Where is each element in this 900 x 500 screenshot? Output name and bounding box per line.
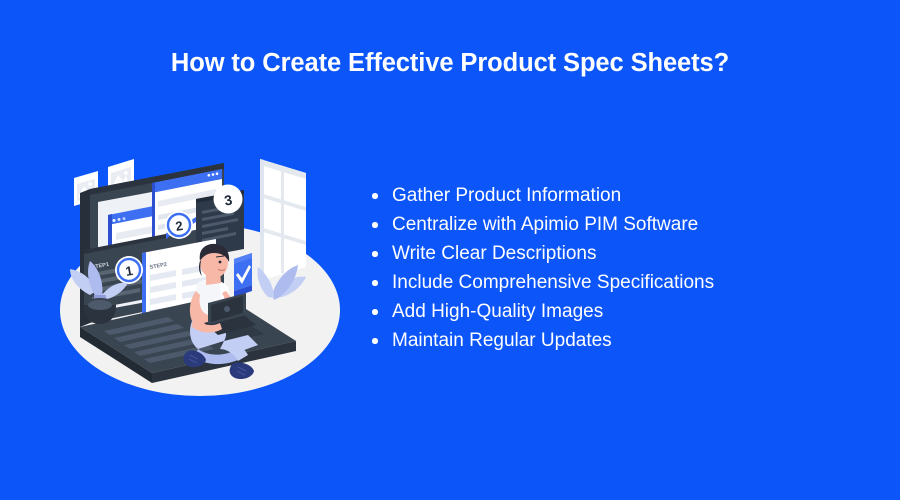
bullet-dot-icon (372, 193, 378, 199)
bullet-dot-icon (372, 280, 378, 286)
bullet-dot-icon (372, 309, 378, 315)
feature-bullet-list: Gather Product Information Centralize wi… (368, 181, 868, 355)
bullet-dot-icon (372, 251, 378, 257)
list-item: Centralize with Apimio PIM Software (368, 210, 868, 239)
list-item-label: Write Clear Descriptions (392, 243, 596, 264)
wall-window-icon (260, 159, 306, 281)
list-item-label: Gather Product Information (392, 185, 621, 206)
hero-illustration: STEP1 STEP2 (48, 145, 348, 410)
page-title: How to Create Effective Product Spec She… (0, 46, 900, 80)
step-badge-1: 1 (115, 256, 143, 284)
list-item: Gather Product Information (368, 181, 868, 210)
checkmark-box-icon (234, 253, 252, 297)
step-badge-3: 3 (214, 185, 243, 214)
list-item: Maintain Regular Updates (368, 326, 868, 355)
list-item-label: Include Comprehensive Specifications (392, 272, 714, 293)
list-item: Write Clear Descriptions (368, 239, 868, 268)
step-badge-2: 2 (165, 211, 193, 239)
list-item: Add High-Quality Images (368, 297, 868, 326)
list-item-label: Maintain Regular Updates (392, 330, 612, 351)
bullet-dot-icon (372, 338, 378, 344)
slide-canvas: How to Create Effective Product Spec She… (0, 0, 900, 500)
list-item-label: Add High-Quality Images (392, 301, 603, 322)
isometric-illustration-svg: STEP1 STEP2 (48, 145, 348, 410)
list-item: Include Comprehensive Specifications (368, 268, 868, 297)
list-item-label: Centralize with Apimio PIM Software (392, 214, 698, 235)
bullet-dot-icon (372, 222, 378, 228)
